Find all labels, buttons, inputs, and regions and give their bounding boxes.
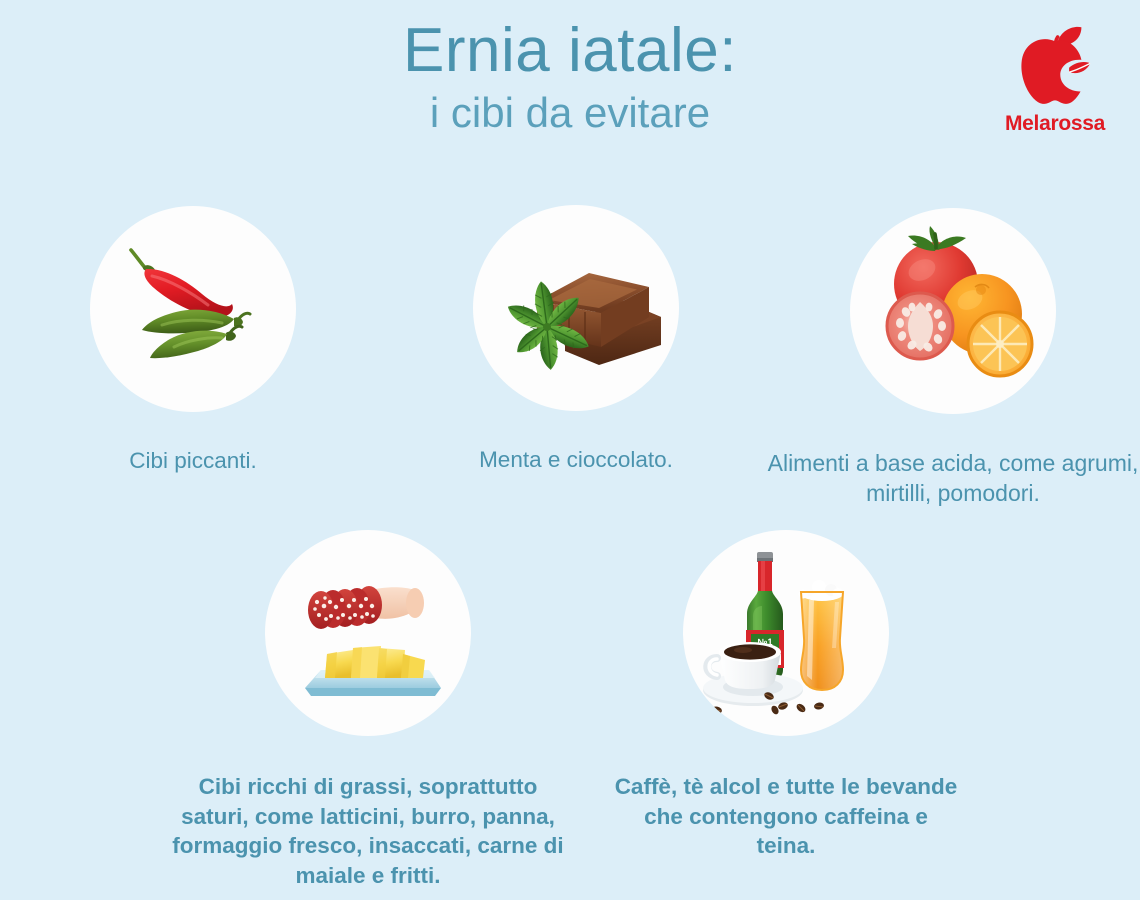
item-menta-cioccolato[interactable]: Menta e cioccolato. <box>473 205 679 411</box>
brand-logo[interactable]: Melarossa <box>996 22 1114 136</box>
coffee-beer-icon: №1 BEER <box>683 530 889 736</box>
item-image-circle <box>90 206 296 412</box>
item-alimenti-acidi[interactable]: Alimenti a base acida, come agrumi, mirt… <box>850 208 1056 414</box>
salami-cheese-plate-icon <box>265 530 471 736</box>
item-caption: Alimenti a base acida, come agrumi, mirt… <box>755 448 1140 509</box>
item-image-circle <box>265 530 471 736</box>
item-caption: Menta e cioccolato. <box>433 445 719 475</box>
page-title: Ernia iatale: <box>0 18 1140 83</box>
infographic-page: Ernia iatale: i cibi da evitare Melaross… <box>0 0 1140 900</box>
tomato-orange-icon <box>850 208 1056 414</box>
mint-chocolate-icon <box>473 205 679 411</box>
chili-peppers-icon <box>90 206 296 412</box>
item-cibi-grassi[interactable]: Cibi ricchi di grassi, soprattutto satur… <box>265 530 471 736</box>
item-bevande-caffeina[interactable]: №1 BEER <box>683 530 889 736</box>
item-cibi-piccanti[interactable]: Cibi piccanti. <box>90 206 296 412</box>
header: Ernia iatale: i cibi da evitare Melaross… <box>0 0 1140 190</box>
title-block: Ernia iatale: i cibi da evitare <box>0 18 1140 137</box>
item-caption: Cibi ricchi di grassi, soprattutto satur… <box>170 772 566 891</box>
item-caption: Caffè, tè alcol e tutte le bevande che c… <box>613 772 959 861</box>
apple-logo-icon <box>1011 22 1099 110</box>
item-image-circle: №1 BEER <box>683 530 889 736</box>
item-caption: Cibi piccanti. <box>60 446 326 476</box>
page-subtitle: i cibi da evitare <box>0 89 1140 137</box>
item-image-circle <box>473 205 679 411</box>
item-image-circle <box>850 208 1056 414</box>
logo-wordmark: Melarossa <box>996 112 1114 136</box>
